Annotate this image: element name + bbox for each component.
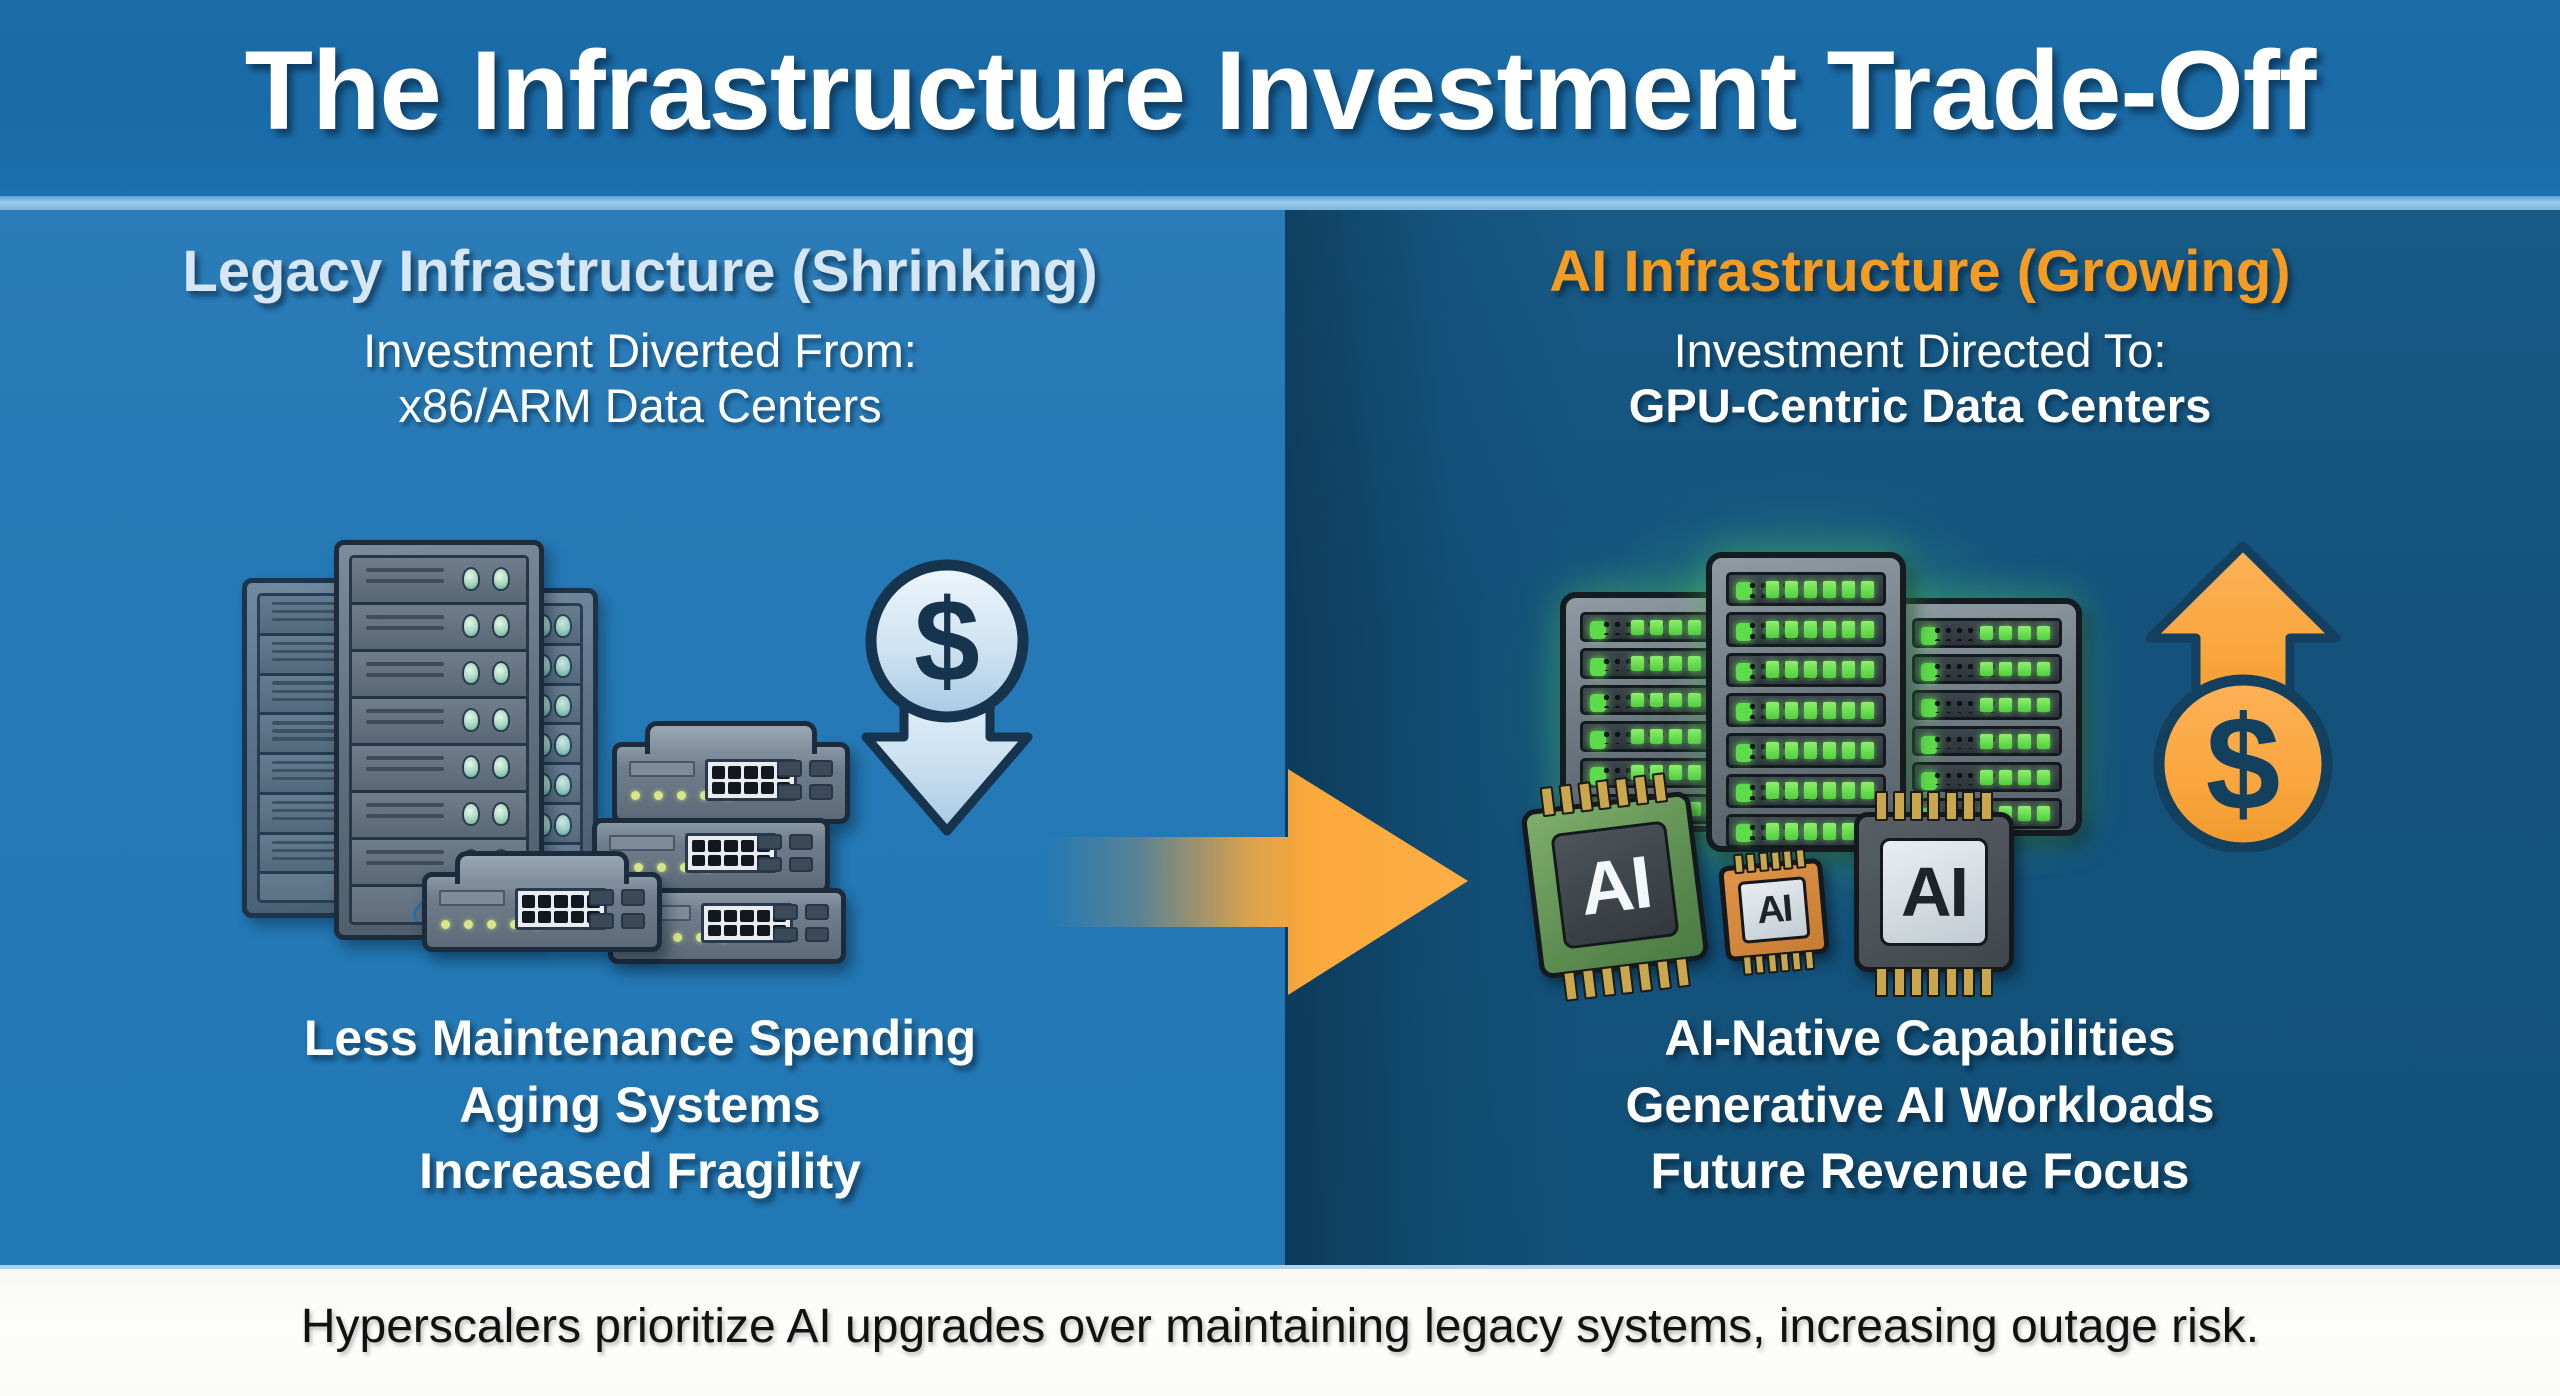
switch-label-sticker xyxy=(609,835,675,851)
ai-bullet-1: AI-Native Capabilities xyxy=(1320,1005,2520,1072)
legacy-bullet-3: Increased Fragility xyxy=(40,1138,1240,1205)
footer-caption: Hyperscalers prioritize AI upgrades over… xyxy=(0,1299,2560,1354)
legacy-subtitle-line-2: x86/ARM Data Centers xyxy=(40,380,1240,433)
switch-uplink-blocks xyxy=(757,834,813,872)
header-banner: The Infrastructure Investment Trade-Off xyxy=(0,0,2560,198)
legacy-subtitle-line-1: Investment Diverted From: xyxy=(40,325,1240,378)
comparison-panels: Legacy Infrastructure (Shrinking) Invest… xyxy=(0,210,2560,1265)
legacy-bullet-1: Less Maintenance Spending xyxy=(40,1005,1240,1072)
ai-chip-icon-small: AI xyxy=(1718,858,1830,963)
page-title: The Infrastructure Investment Trade-Off xyxy=(0,24,2560,158)
switch-chassis-top xyxy=(645,721,817,754)
ai-chip-label-grey: AI xyxy=(1880,838,1988,946)
dollar-up-arrow-icon: $ xyxy=(2118,532,2368,852)
legacy-bullet-2: Aging Systems xyxy=(40,1072,1240,1139)
dollar-up-arrow-svg: $ xyxy=(2118,532,2368,852)
switch-label-sticker xyxy=(629,761,695,777)
switch-label-sticker xyxy=(439,890,505,906)
dollar-sign-label: $ xyxy=(914,575,980,707)
ai-chip-icon: AI xyxy=(1520,790,1709,979)
flow-arrow-svg xyxy=(1040,755,1540,1005)
switch-uplink-blocks xyxy=(589,889,645,929)
dollar-down-arrow-icon: $ xyxy=(832,555,1062,845)
ai-panel-heading: AI Infrastructure (Growing) xyxy=(1320,238,2520,305)
infographic-canvas: The Infrastructure Investment Trade-Off … xyxy=(0,0,2560,1396)
chip-pins-top xyxy=(1873,791,1995,817)
chip-pins-bottom xyxy=(1741,950,1816,972)
ai-subtitle-line-1: Investment Directed To: xyxy=(1320,325,2520,378)
switch-uplink-blocks xyxy=(773,904,829,942)
ai-chip-icon-grey: AI xyxy=(1854,812,2014,972)
ai-subtitle-line-2: GPU-Centric Data Centers xyxy=(1320,380,2520,433)
footer-bar: Hyperscalers prioritize AI upgrades over… xyxy=(0,1265,2560,1396)
switch-chassis-top xyxy=(455,851,629,884)
dollar-sign-label: $ xyxy=(2206,690,2281,839)
chip-pins-bottom xyxy=(1873,967,1995,993)
ai-gpu-server-racks-icon: AI AI AI xyxy=(1500,510,2120,980)
network-switch-1 xyxy=(612,742,850,824)
switch-uplink-blocks xyxy=(777,760,833,800)
legacy-bullet-list: Less Maintenance Spending Aging Systems … xyxy=(40,1005,1240,1205)
right-arrow-icon xyxy=(1040,755,1540,1005)
ai-chip-label-small: AI xyxy=(1738,876,1811,944)
ai-bullet-list: AI-Native Capabilities Generative AI Wor… xyxy=(1320,1005,2520,1205)
network-switch-4 xyxy=(422,872,662,952)
header-divider xyxy=(0,196,2560,210)
legacy-panel-heading: Legacy Infrastructure (Shrinking) xyxy=(40,238,1240,305)
ai-bullet-3: Future Revenue Focus xyxy=(1320,1138,2520,1205)
ai-bullet-2: Generative AI Workloads xyxy=(1320,1072,2520,1139)
dollar-down-arrow-svg: $ xyxy=(832,555,1062,845)
ai-chip-label-large: AI xyxy=(1551,821,1679,949)
